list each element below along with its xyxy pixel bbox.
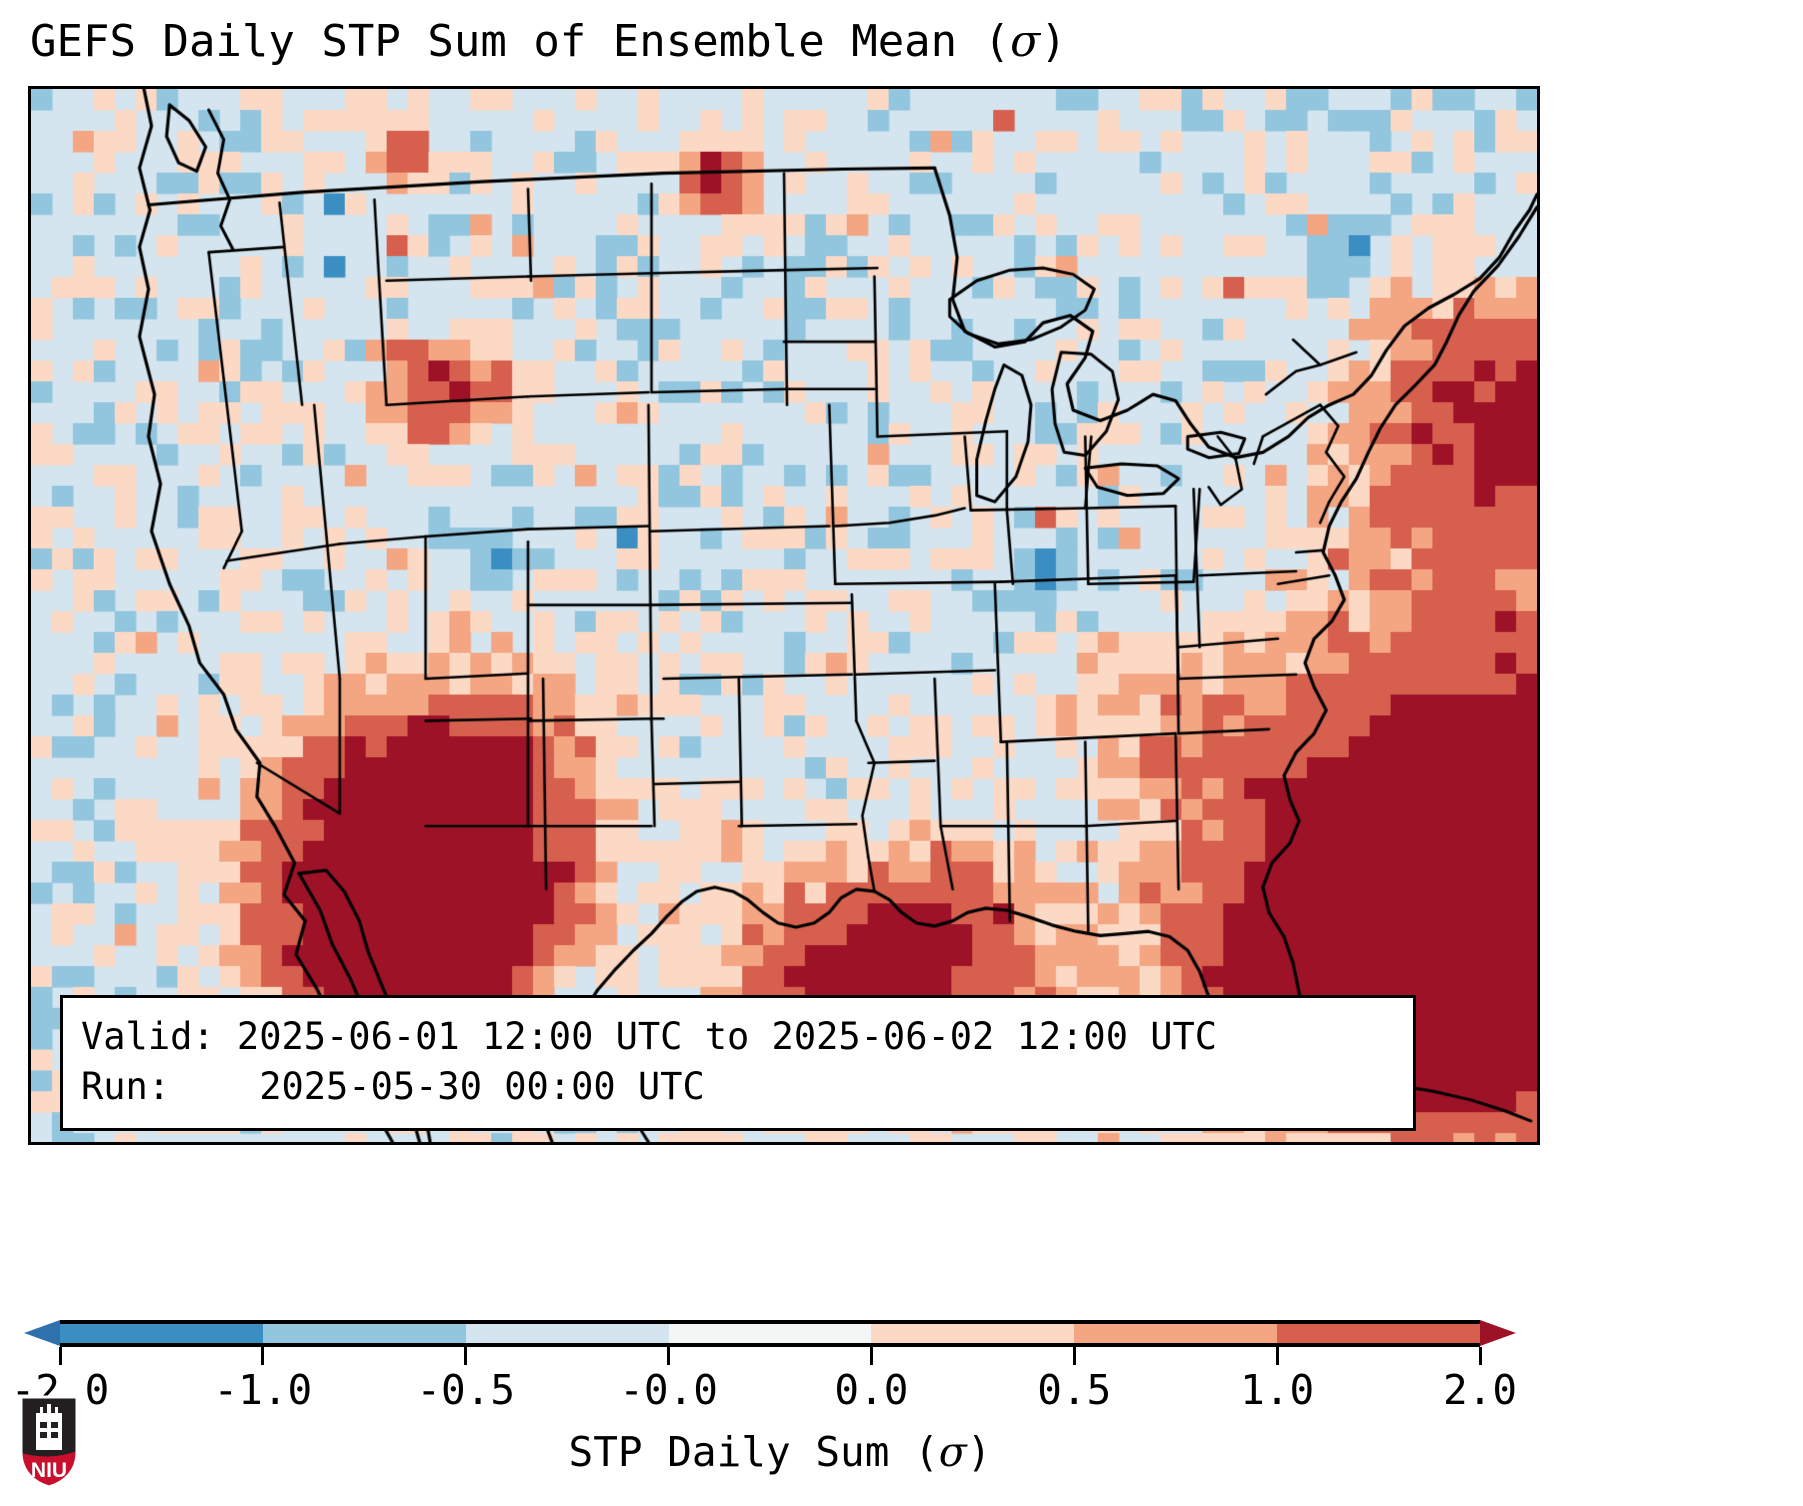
niu-logo: NIU [18, 1394, 80, 1490]
sigma-symbol: σ [1010, 16, 1040, 67]
colorbar-tick-1 [261, 1347, 264, 1365]
colorbar [60, 1320, 1480, 1347]
map-axes [28, 86, 1540, 1145]
colorbar-axis-label: STP Daily Sum (σ) [0, 1428, 1560, 1476]
niu-logo-text: NIU [31, 1459, 67, 1482]
page-title: GEFS Daily STP Sum of Ensemble Mean (σ) [30, 16, 1067, 67]
colorbar-segment-5 [1074, 1324, 1277, 1343]
colorbar-tick-label-7: 2.0 [1443, 1366, 1517, 1414]
niu-shield-icon: NIU [18, 1394, 80, 1490]
colorbar-segment-4 [871, 1324, 1074, 1343]
run-time-line: Run: 2025-05-30 00:00 UTC [81, 1062, 1395, 1112]
colorbar-tick-0 [59, 1347, 62, 1365]
colorbar-tick-label-4: 0.0 [834, 1366, 908, 1414]
colorbar-tick-label-3: -0.0 [619, 1366, 718, 1414]
valid-run-infobox: Valid: 2025-06-01 12:00 UTC to 2025-06-0… [60, 995, 1416, 1131]
colorbar-axis-label-text: STP Daily Sum ( [569, 1428, 939, 1476]
colorbar-segment-1 [263, 1324, 466, 1343]
colorbar-segment-2 [466, 1324, 669, 1343]
colorbar-tick-label-1: -1.0 [213, 1366, 312, 1414]
colorbar-segment-3 [669, 1324, 872, 1343]
page-title-suffix: ) [1040, 16, 1067, 67]
colorbar-segments [60, 1320, 1480, 1347]
valid-time-line: Valid: 2025-06-01 12:00 UTC to 2025-06-0… [81, 1012, 1395, 1062]
colorbar-tick-7 [1479, 1347, 1482, 1365]
page-title-text: GEFS Daily STP Sum of Ensemble Mean ( [30, 16, 1010, 67]
colorbar-ticks [60, 1347, 1480, 1365]
colorbar-extend-min-arrow [24, 1320, 60, 1346]
colorbar-axis-label-suffix: ) [967, 1428, 992, 1476]
colorbar-segment-0 [60, 1324, 263, 1343]
colorbar-tick-label-2: -0.5 [416, 1366, 515, 1414]
colorbar-segment-6 [1277, 1324, 1480, 1343]
colorbar-extend-max-arrow [1480, 1320, 1516, 1346]
colorbar-tick-label-6: 1.0 [1240, 1366, 1314, 1414]
colorbar-tick-6 [1276, 1347, 1279, 1365]
colorbar-tick-label-5: 0.5 [1037, 1366, 1111, 1414]
colorbar-tick-4 [870, 1347, 873, 1365]
colorbar-tick-5 [1073, 1347, 1076, 1365]
colorbar-tick-3 [667, 1347, 670, 1365]
colorbar-sigma-symbol: σ [939, 1428, 967, 1476]
stp-heatmap-canvas [31, 89, 1537, 1142]
colorbar-tick-labels: -2.0-1.0-0.5-0.00.00.51.02.0 [60, 1366, 1480, 1416]
colorbar-tick-2 [464, 1347, 467, 1365]
